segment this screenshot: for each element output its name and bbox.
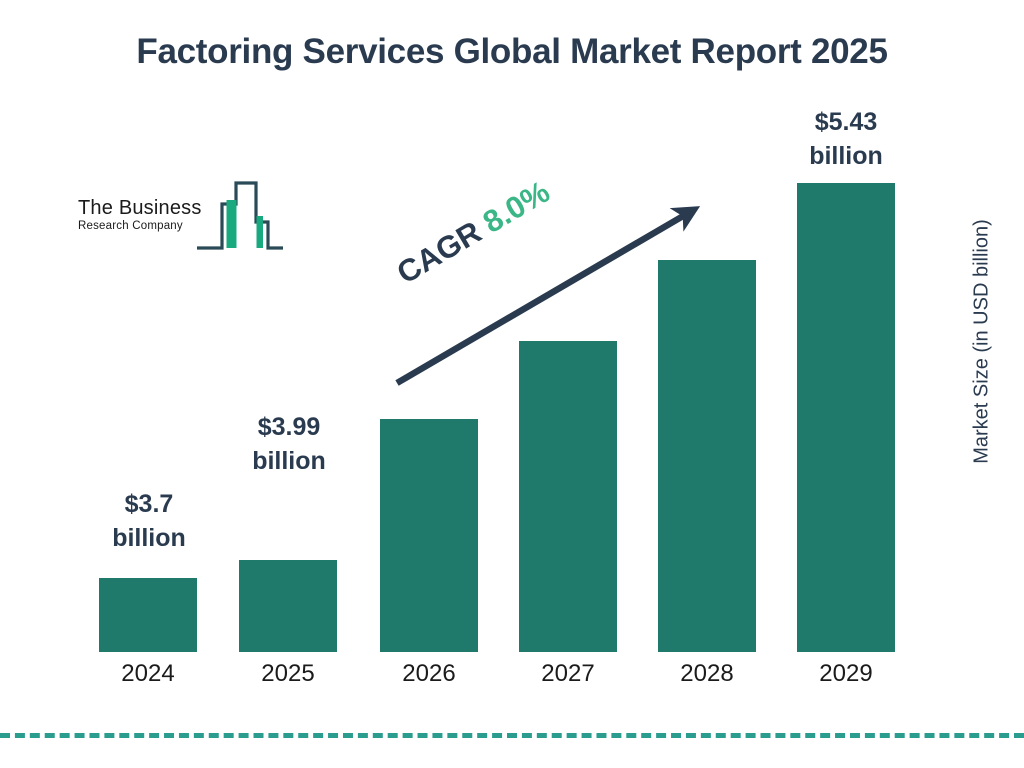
y-axis-title: Market Size (in USD billion) <box>971 182 994 502</box>
footer-divider <box>0 733 1024 738</box>
bar-value-amount-2024: $3.7 <box>125 490 174 518</box>
x-tick-2024: 2024 <box>99 660 197 688</box>
plot-area: $3.7 billion $3.99 billion $5.43 billion… <box>0 0 1024 768</box>
x-tick-2028: 2028 <box>658 660 756 688</box>
bar-2024 <box>99 578 197 652</box>
bar-value-unit-2025: billion <box>252 447 326 475</box>
x-tick-2027: 2027 <box>519 660 617 688</box>
bar-value-label-2024: $3.7 billion <box>74 487 224 555</box>
bar-2027 <box>519 341 617 652</box>
chart-canvas: Factoring Services Global Market Report … <box>0 0 1024 768</box>
bar-value-unit-2024: billion <box>112 524 186 552</box>
bar-value-unit-2029: billion <box>809 142 883 170</box>
x-tick-2026: 2026 <box>380 660 478 688</box>
bar-2025 <box>239 560 337 652</box>
bar-value-amount-2029: $5.43 <box>815 108 878 136</box>
bar-2028 <box>658 260 756 652</box>
bar-2026 <box>380 419 478 652</box>
bar-value-amount-2025: $3.99 <box>258 413 321 441</box>
bar-value-label-2029: $5.43 billion <box>771 105 921 173</box>
bar-value-label-2025: $3.99 billion <box>214 410 364 478</box>
bar-2029 <box>797 183 895 652</box>
x-tick-2025: 2025 <box>239 660 337 688</box>
x-tick-2029: 2029 <box>797 660 895 688</box>
